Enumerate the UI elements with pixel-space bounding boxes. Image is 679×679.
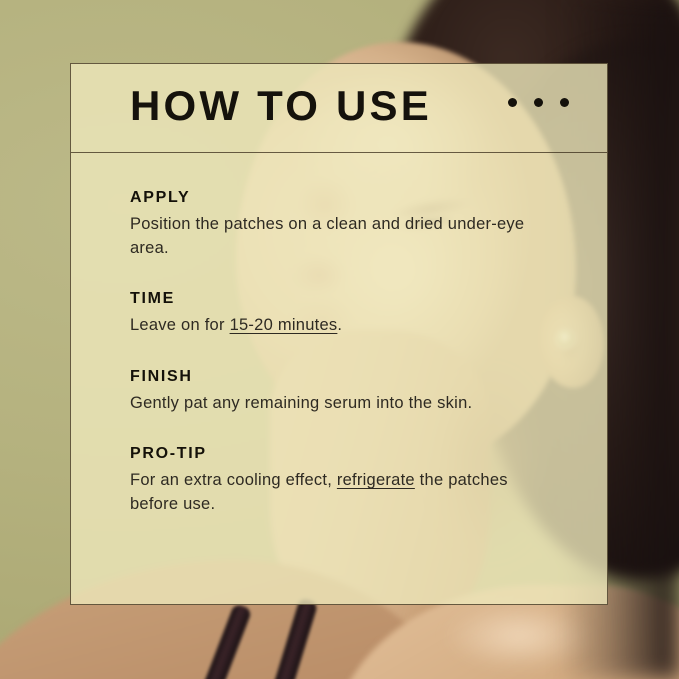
section-finish: FINISH Gently pat any remaining serum in… <box>130 368 567 416</box>
section-time: TIME Leave on for 15-20 minutes. <box>130 290 567 338</box>
dot-1 <box>508 98 517 107</box>
time-duration-emphasis: 15-20 minutes <box>230 316 338 334</box>
section-label-time: TIME <box>130 290 567 308</box>
section-label-finish: FINISH <box>130 368 567 386</box>
page-title: HOW TO USE <box>130 85 432 127</box>
panel-header: HOW TO USE <box>71 64 607 153</box>
time-text-before: Leave on for <box>130 316 230 334</box>
finish-text-before: Gently pat any remaining serum into the … <box>130 394 472 412</box>
protip-text-before: For an extra cooling effect, <box>130 471 337 489</box>
screenshot-root: HOW TO USE APPLY Position the patches on… <box>0 0 679 679</box>
how-to-use-panel: HOW TO USE APPLY Position the patches on… <box>70 63 608 605</box>
panel-body: APPLY Position the patches on a clean an… <box>71 153 607 517</box>
section-apply: APPLY Position the patches on a clean an… <box>130 189 567 260</box>
three-dots-icon <box>508 98 569 107</box>
dot-3 <box>560 98 569 107</box>
section-pro-tip: PRO-TIP For an extra cooling effect, ref… <box>130 445 567 516</box>
section-text-apply: Position the patches on a clean and drie… <box>130 213 550 261</box>
apply-text-before: Position the patches on a clean and drie… <box>130 215 524 257</box>
time-text-after: . <box>337 316 342 334</box>
section-label-apply: APPLY <box>130 189 567 207</box>
section-label-pro-tip: PRO-TIP <box>130 445 567 463</box>
section-text-finish: Gently pat any remaining serum into the … <box>130 392 550 416</box>
dot-2 <box>534 98 543 107</box>
section-text-pro-tip: For an extra cooling effect, refrigerate… <box>130 469 550 517</box>
section-text-time: Leave on for 15-20 minutes. <box>130 314 550 338</box>
protip-emphasis: refrigerate <box>337 471 415 489</box>
